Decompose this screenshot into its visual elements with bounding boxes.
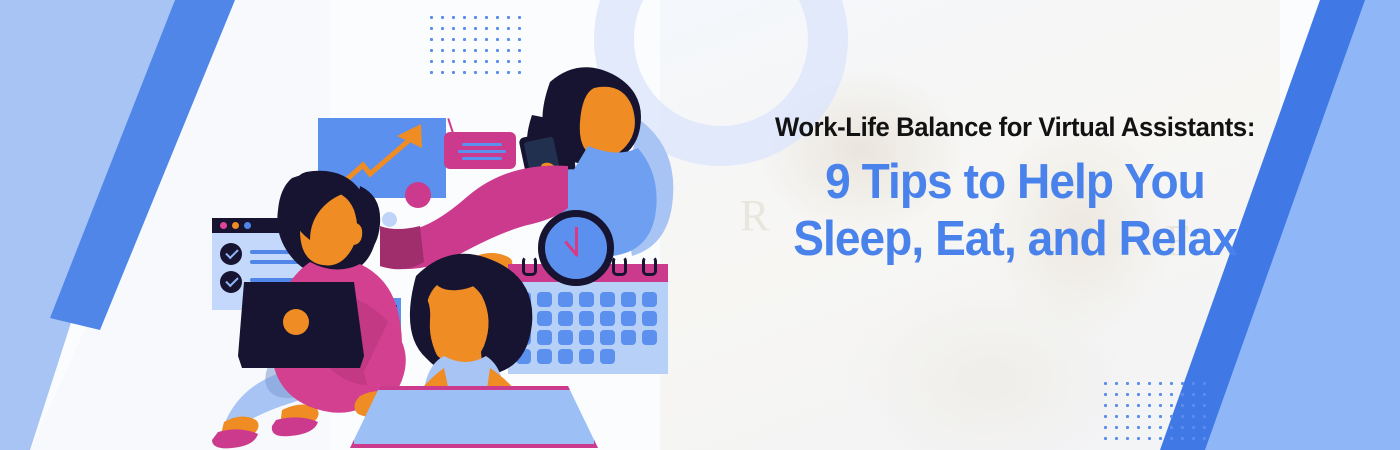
- decor-dot: [1192, 437, 1195, 440]
- decor-dot: [1181, 426, 1184, 429]
- decor-dot: [1104, 382, 1107, 385]
- calendar-day-cell: [642, 330, 657, 345]
- illustration-group: [200, 0, 680, 450]
- calendar-day-cell: [600, 292, 615, 307]
- decor-dot: [1170, 382, 1173, 385]
- decor-dot: [1170, 393, 1173, 396]
- calendar-day-cell: [621, 311, 636, 326]
- decor-dot: [1203, 382, 1206, 385]
- decor-dot: [1115, 415, 1118, 418]
- headline-kicker: Work-Life Balance for Virtual Assistants…: [706, 112, 1324, 143]
- decor-dot: [1115, 437, 1118, 440]
- decor-dot: [1192, 415, 1195, 418]
- decor-dot: [1126, 404, 1129, 407]
- decor-dot: [1115, 393, 1118, 396]
- banner: R F: [0, 0, 1400, 450]
- decor-dot: [1159, 404, 1162, 407]
- decor-dot: [1192, 393, 1195, 396]
- yoga-mat: [350, 386, 598, 448]
- decor-dot: [1159, 393, 1162, 396]
- decor-dot: [1170, 426, 1173, 429]
- decor-dot: [1104, 426, 1107, 429]
- decor-dot: [1126, 415, 1129, 418]
- decor-dot: [1203, 393, 1206, 396]
- calendar-day-cell: [621, 292, 636, 307]
- calendar-day-cell: [642, 292, 657, 307]
- calendar-day-cell: [600, 330, 615, 345]
- decor-dot: [1148, 437, 1151, 440]
- headline-block: Work-Life Balance for Virtual Assistants…: [690, 112, 1340, 267]
- calendar-ring: [612, 256, 627, 276]
- decor-dot: [1159, 382, 1162, 385]
- decor-dot: [1159, 415, 1162, 418]
- calendar-day-cell: [600, 311, 615, 326]
- decor-dot: [1137, 415, 1140, 418]
- decor-dot: [1148, 426, 1151, 429]
- headline-line-2: Sleep, Eat, and Relax: [710, 212, 1321, 267]
- decor-dot: [1104, 415, 1107, 418]
- decor-dot: [1148, 393, 1151, 396]
- decor-dot: [1181, 393, 1184, 396]
- decor-dot: [1126, 426, 1129, 429]
- decor-dot: [1115, 404, 1118, 407]
- decor-dot: [1203, 437, 1206, 440]
- calendar-day-cell: [600, 349, 615, 364]
- decor-dot: [1181, 437, 1184, 440]
- calendar-day-cell: [621, 330, 636, 345]
- decor-dot: [1137, 426, 1140, 429]
- decor-dot: [1137, 393, 1140, 396]
- decor-dot: [1159, 437, 1162, 440]
- decor-dot: [1104, 404, 1107, 407]
- decor-dot: [1192, 382, 1195, 385]
- decor-dot: [1104, 437, 1107, 440]
- headline-line-1: 9 Tips to Help You: [710, 155, 1321, 210]
- decor-dot: [1159, 426, 1162, 429]
- decor-dot: [1137, 404, 1140, 407]
- decor-dot: [1170, 415, 1173, 418]
- decor-dot: [1126, 382, 1129, 385]
- decor-dot: [1170, 404, 1173, 407]
- calendar-ring: [642, 256, 657, 276]
- decor-dot: [1115, 382, 1118, 385]
- decor-dot: [1148, 404, 1151, 407]
- decor-dot: [1203, 415, 1206, 418]
- decor-dot: [1137, 437, 1140, 440]
- calendar-day-cell: [642, 311, 657, 326]
- decor-dot: [1203, 404, 1206, 407]
- decor-dot: [1203, 426, 1206, 429]
- decor-dot: [1104, 393, 1107, 396]
- decor-dot: [1181, 382, 1184, 385]
- decor-dot: [1181, 404, 1184, 407]
- decor-dot: [1148, 382, 1151, 385]
- decor-dot: [1192, 404, 1195, 407]
- decor-dot: [1115, 426, 1118, 429]
- decor-dot: [1170, 437, 1173, 440]
- decor-dot: [1181, 415, 1184, 418]
- decor-dot: [1126, 393, 1129, 396]
- decor-dot: [1148, 415, 1151, 418]
- decor-dot: [1126, 437, 1129, 440]
- decor-dot: [1192, 426, 1195, 429]
- decor-dot: [1137, 382, 1140, 385]
